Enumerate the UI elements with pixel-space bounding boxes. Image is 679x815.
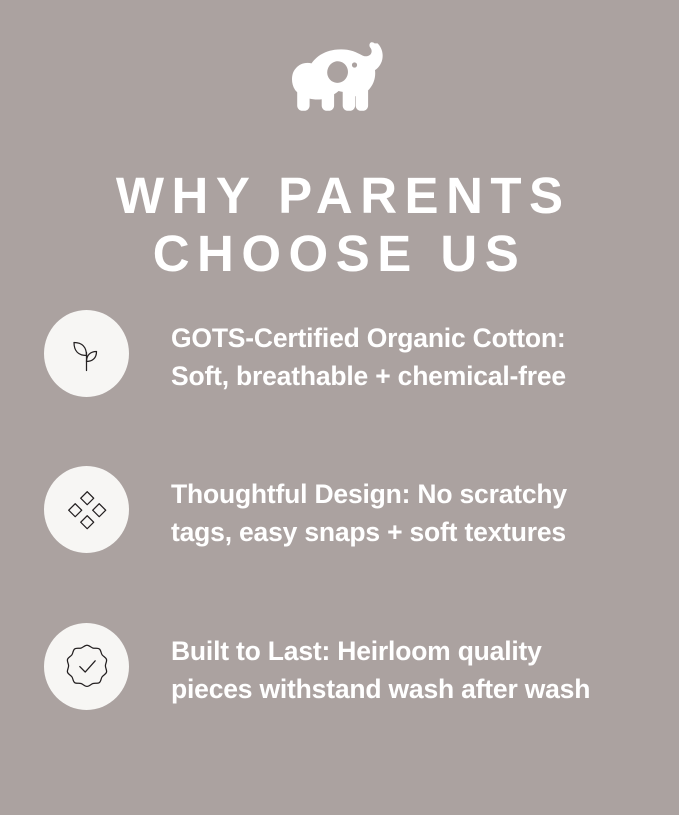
feature-text: Thoughtful Design: No scratchy tags, eas… <box>171 475 641 551</box>
four-diamonds-icon <box>65 488 109 532</box>
brand-logo <box>0 36 679 116</box>
feature-text: GOTS-Certified Organic Cotton: Soft, bre… <box>171 319 641 395</box>
elephant-logo-icon <box>292 40 388 112</box>
feature-text: Built to Last: Heirloom quality pieces w… <box>171 632 641 708</box>
why-parents-choose-us-panel: WHY PARENTS CHOOSE US GOTS-Certified Org… <box>0 0 679 815</box>
feature-item-thoughtful-design: Thoughtful Design: No scratchy tags, eas… <box>0 466 679 623</box>
badge-check-icon <box>63 642 111 692</box>
feature-list: GOTS-Certified Organic Cotton: Soft, bre… <box>0 310 679 781</box>
sprout-icon <box>65 332 109 376</box>
feature-icon-badge <box>44 623 129 710</box>
feature-icon-badge <box>44 466 129 553</box>
feature-item-built-to-last: Built to Last: Heirloom quality pieces w… <box>0 623 679 781</box>
feature-icon-badge <box>44 310 129 397</box>
feature-item-organic-cotton: GOTS-Certified Organic Cotton: Soft, bre… <box>0 310 679 466</box>
page-title: WHY PARENTS CHOOSE US <box>0 167 679 283</box>
